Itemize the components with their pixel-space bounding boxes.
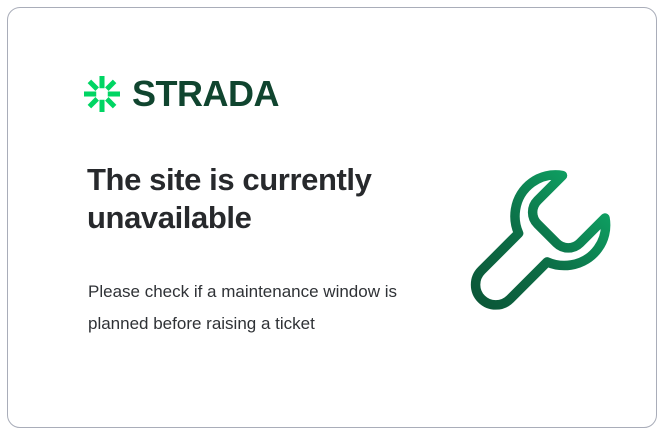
brand-wordmark: STRADA [132, 76, 279, 112]
wrench-icon [463, 163, 623, 318]
error-page: STRADA The site is currently unavailable… [0, 0, 666, 436]
strada-asterisk-icon [84, 76, 120, 112]
page-title: The site is currently unavailable [87, 161, 417, 237]
page-description: Please check if a maintenance window is … [88, 276, 408, 340]
brand-logo: STRADA [84, 76, 279, 112]
status-card: STRADA The site is currently unavailable… [7, 7, 657, 428]
